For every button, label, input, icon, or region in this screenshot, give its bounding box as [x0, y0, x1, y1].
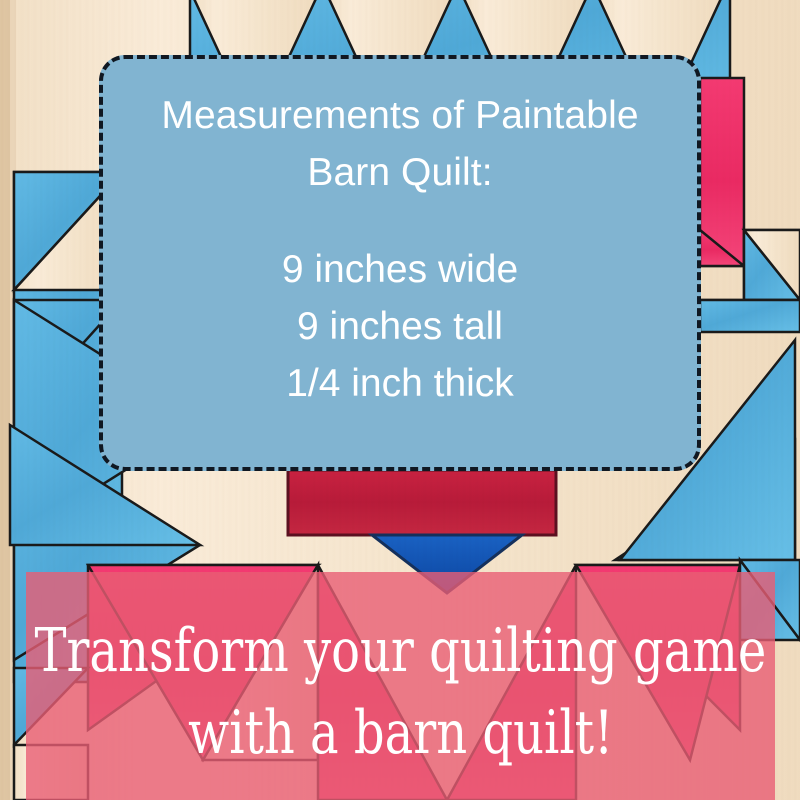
measurements-callout-box: Measurements of Paintable Barn Quilt: 9 … [99, 55, 701, 471]
spec-list: 9 inches wide 9 inches tall 1/4 inch thi… [282, 241, 518, 412]
spec-height: 9 inches tall [282, 298, 518, 355]
promo-headline-line-2: with a barn quilt! [188, 692, 613, 774]
promo-banner: Transform your quilting game with a barn… [26, 572, 775, 800]
spec-width: 9 inches wide [282, 241, 518, 298]
promotional-image: Measurements of Paintable Barn Quilt: 9 … [0, 0, 800, 800]
spec-thickness: 1/4 inch thick [282, 355, 518, 412]
callout-title: Measurements of Paintable Barn Quilt: [120, 87, 680, 201]
promo-headline-line-1: Transform your quilting game [35, 610, 767, 692]
